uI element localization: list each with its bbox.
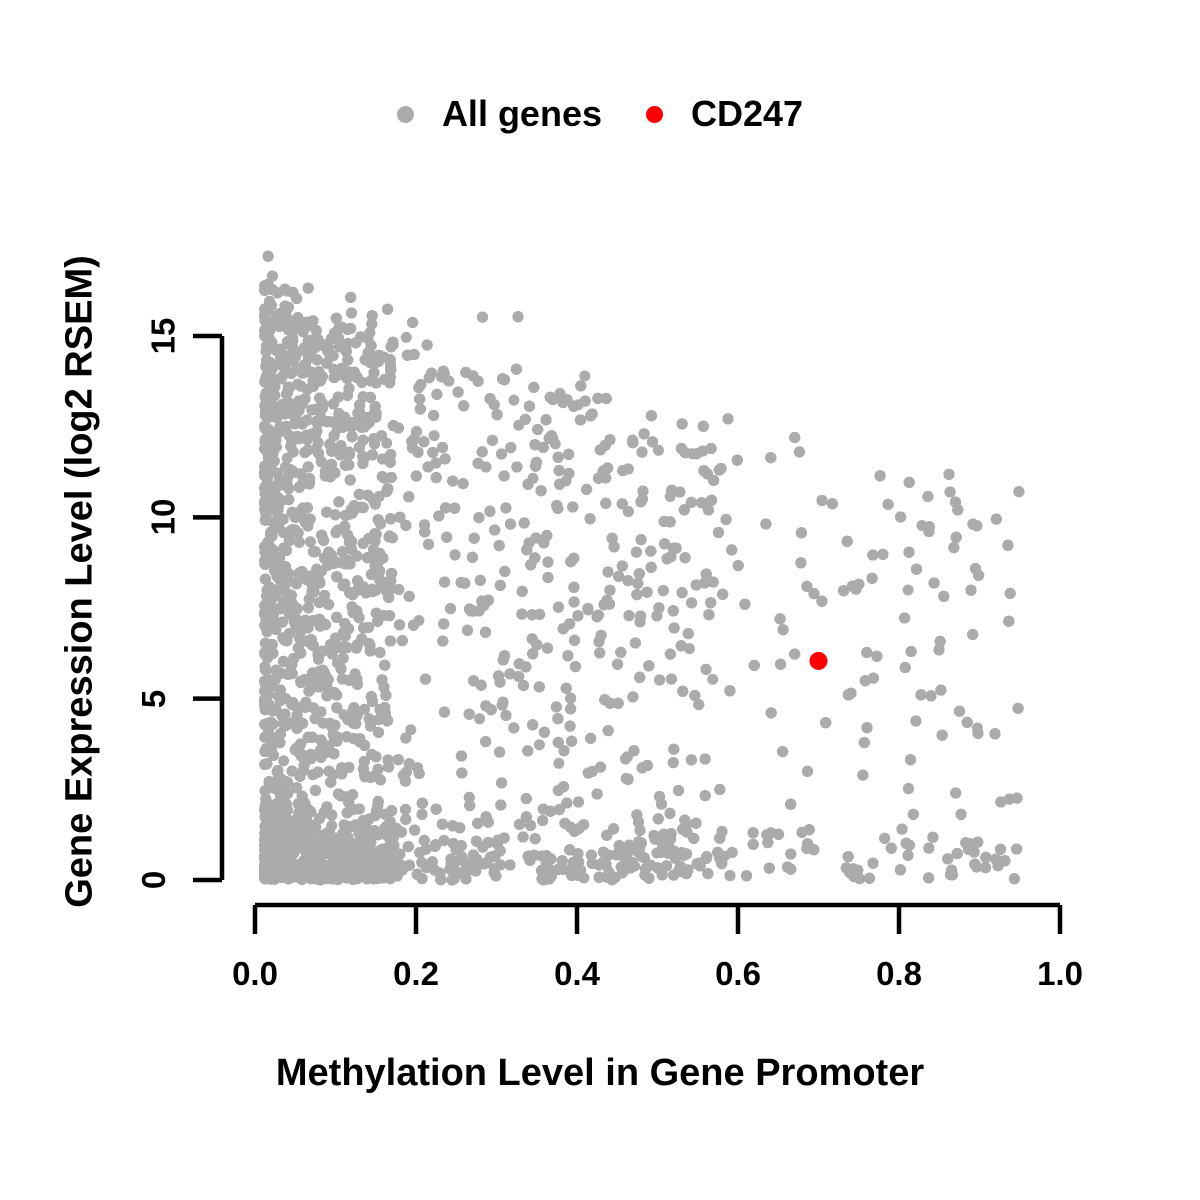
highlight-point-cd247 — [810, 652, 828, 670]
y-axis-title: Gene Expression Level (log2 RSEM) — [59, 162, 102, 1002]
x-tick-label: 0.0 — [232, 955, 278, 993]
scatter-plot-figure: All genes CD247 Methylation Level in Gen… — [0, 0, 1200, 1200]
y-tick-label: 0 — [135, 871, 173, 889]
plot-background — [0, 0, 1200, 1200]
x-tick-label: 0.4 — [554, 955, 600, 993]
x-tick-label: 1.0 — [1037, 955, 1083, 993]
red-dot-icon — [646, 106, 663, 123]
legend-entry-cd247: CD247 — [646, 93, 803, 135]
legend-entry-all-genes: All genes — [397, 93, 602, 135]
legend: All genes CD247 — [0, 88, 1200, 140]
x-axis-title: Methylation Level in Gene Promoter — [0, 1052, 1200, 1095]
gray-dot-icon — [397, 106, 414, 123]
y-tick-label: 15 — [144, 318, 182, 355]
x-tick-label: 0.6 — [715, 955, 761, 993]
legend-label-cd247: CD247 — [691, 93, 803, 135]
x-tick-label: 0.2 — [393, 955, 439, 993]
x-tick-label: 0.8 — [876, 955, 922, 993]
y-tick-label: 5 — [135, 689, 173, 707]
chart-canvas — [0, 0, 1200, 1200]
highlight-point-layer — [810, 652, 828, 670]
legend-label-all-genes: All genes — [442, 93, 602, 135]
y-tick-label: 10 — [144, 499, 182, 536]
